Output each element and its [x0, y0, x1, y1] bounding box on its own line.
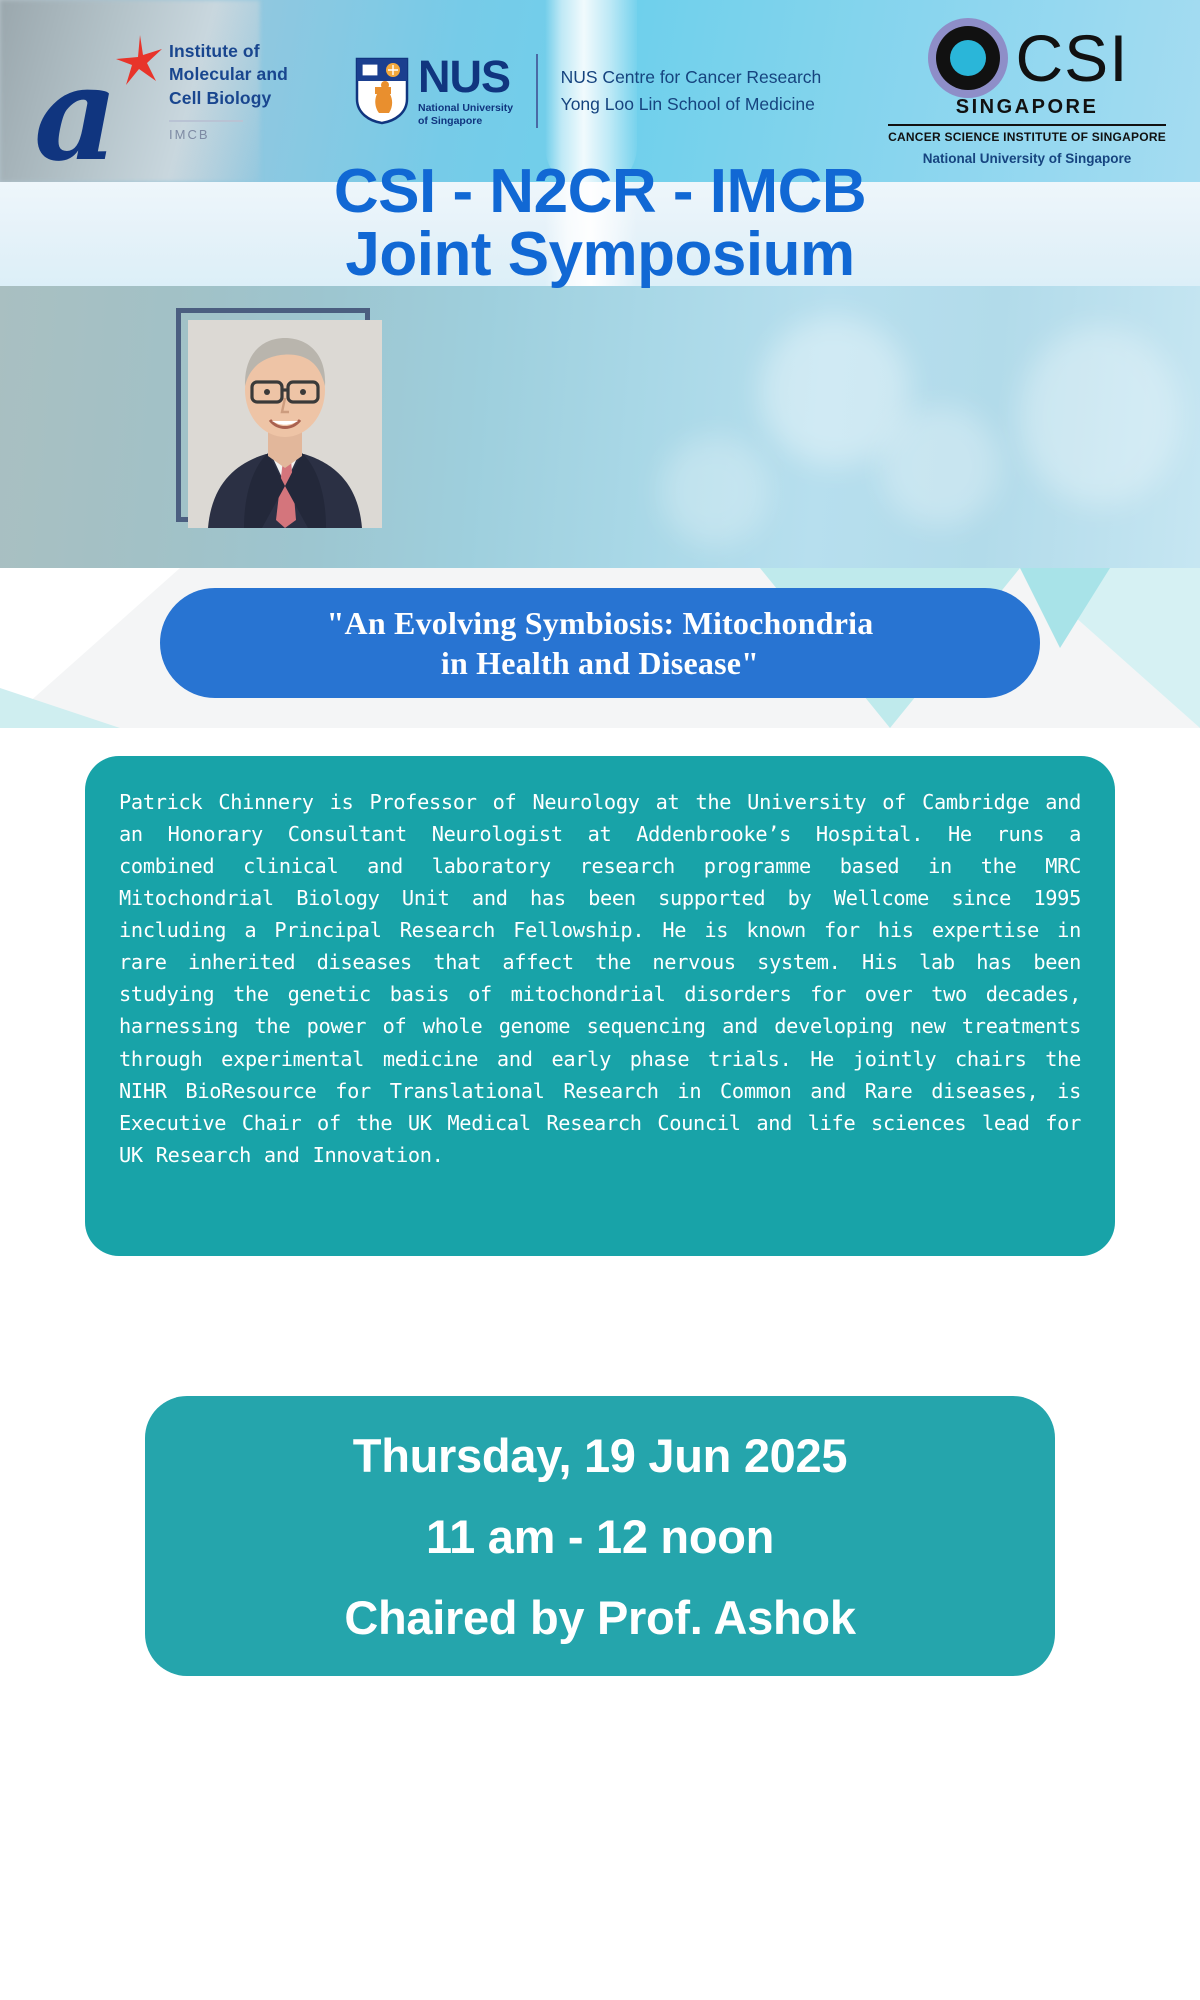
- nus-subtitle-1: National University: [418, 102, 513, 115]
- nus-crest-icon: [355, 57, 409, 125]
- imcb-mark-icon: a: [38, 31, 163, 151]
- bokeh-decoration: [880, 406, 1000, 526]
- imcb-star-icon: [116, 35, 162, 93]
- csi-divider: [888, 124, 1166, 126]
- talk-title-line-2: in Health and Disease": [441, 643, 759, 683]
- speaker-portrait-container: [176, 308, 382, 534]
- bokeh-decoration: [1020, 326, 1180, 506]
- event-title-line-1: CSI - N2CR - IMCB: [0, 160, 1200, 223]
- speaker-bio-box: Patrick Chinnery is Professor of Neurolo…: [85, 756, 1115, 1256]
- nus-centre-line-1: NUS Centre for Cancer Research: [561, 64, 822, 91]
- talk-title-pill: "An Evolving Symbiosis: Mitochondria in …: [160, 588, 1040, 698]
- event-details-box: Thursday, 19 Jun 2025 11 am - 12 noon Ch…: [145, 1396, 1055, 1676]
- speaker-band: Prof. Patrick Chinnery Professor & Execu…: [0, 286, 1200, 568]
- nus-vertical-divider: [536, 54, 538, 128]
- csi-logo: CSI SINGAPORE CANCER SCIENCE INSTITUTE O…: [888, 16, 1166, 166]
- imcb-line-3: Cell Biology: [169, 87, 288, 110]
- imcb-line-1: Institute of: [169, 40, 288, 63]
- imcb-logo: a Institute of Molecular and Cell Biolog…: [38, 31, 333, 151]
- event-title-line-2: Joint Symposium: [0, 223, 1200, 286]
- event-chair: Chaired by Prof. Ashok: [344, 1590, 855, 1645]
- avatar: [188, 320, 382, 528]
- bokeh-decoration: [660, 436, 770, 546]
- symposium-poster: a Institute of Molecular and Cell Biolog…: [0, 0, 1200, 2000]
- imcb-divider: [169, 120, 243, 122]
- nus-subtitle-2: of Singapore: [418, 115, 513, 128]
- portrait-illustration-icon: [188, 320, 382, 528]
- event-time: 11 am - 12 noon: [426, 1509, 774, 1564]
- page-title: CSI - N2CR - IMCB Joint Symposium: [0, 160, 1200, 286]
- nus-centre-line-2: Yong Loo Lin School of Medicine: [561, 91, 822, 118]
- nus-logo: NUS National University of Singapore NUS…: [355, 54, 821, 128]
- csi-institute-name: CANCER SCIENCE INSTITUTE OF SINGAPORE: [888, 130, 1166, 144]
- imcb-abbreviation: IMCB: [169, 127, 288, 142]
- imcb-line-2: Molecular and: [169, 63, 288, 86]
- nus-wordmark: NUS: [418, 54, 513, 99]
- event-date: Thursday, 19 Jun 2025: [353, 1428, 847, 1483]
- csi-ring-icon: [926, 16, 1010, 100]
- content-section: "An Evolving Symbiosis: Mitochondria in …: [0, 568, 1200, 2000]
- csi-letters: CSI: [1016, 28, 1129, 89]
- logo-header-band: a Institute of Molecular and Cell Biolog…: [0, 0, 1200, 182]
- speaker-bio-text: Patrick Chinnery is Professor of Neurolo…: [119, 786, 1081, 1171]
- talk-title-line-1: "An Evolving Symbiosis: Mitochondria: [327, 603, 874, 643]
